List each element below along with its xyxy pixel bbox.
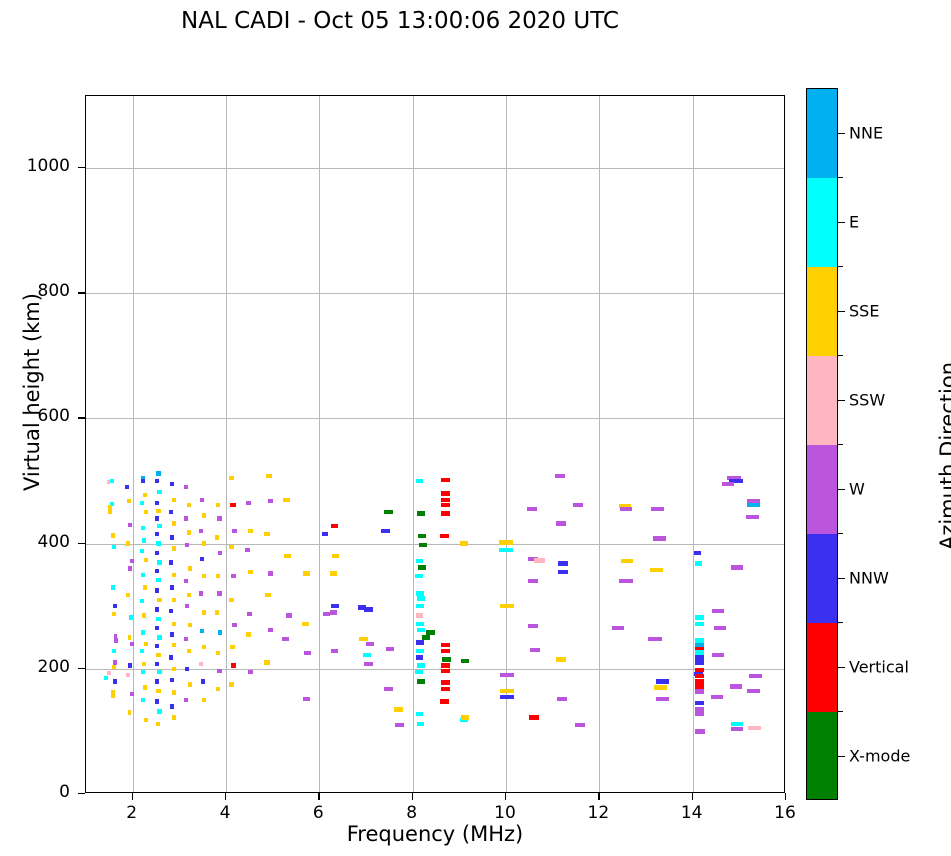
data-mark [107, 480, 111, 484]
data-mark [143, 493, 147, 497]
data-mark [460, 541, 468, 545]
data-mark [202, 541, 206, 545]
data-mark [140, 501, 144, 505]
colorbar-segment-w [807, 445, 837, 534]
data-mark [416, 640, 423, 644]
data-mark [185, 604, 189, 608]
x-tick-mark [318, 793, 319, 800]
x-tick-label: 14 [681, 803, 703, 823]
data-mark [229, 545, 234, 549]
data-mark [113, 679, 117, 683]
data-mark [169, 560, 173, 564]
data-mark [140, 649, 144, 653]
data-mark [695, 615, 704, 619]
data-mark [722, 482, 734, 486]
data-mark [695, 684, 704, 688]
data-mark [187, 530, 191, 534]
data-mark [384, 510, 392, 514]
data-mark [215, 535, 219, 539]
data-mark [156, 541, 161, 545]
data-mark [156, 471, 161, 475]
data-mark [155, 588, 160, 592]
data-mark [229, 682, 234, 686]
data-mark [229, 476, 234, 480]
colorbar-segment-nnw [807, 534, 837, 623]
data-mark [712, 609, 724, 613]
data-mark [155, 644, 160, 648]
data-mark [441, 687, 450, 691]
data-mark [265, 593, 271, 597]
data-mark [107, 671, 111, 675]
colorbar-boundary-tick [838, 355, 843, 356]
data-mark [653, 536, 666, 540]
plot-area [85, 95, 785, 793]
data-mark [200, 629, 204, 633]
data-mark [202, 513, 206, 517]
data-mark [695, 729, 704, 733]
data-mark [528, 579, 538, 583]
data-mark [363, 653, 371, 657]
data-mark [695, 561, 702, 565]
data-mark [461, 659, 469, 663]
data-mark [248, 670, 253, 674]
data-mark [141, 630, 145, 634]
data-mark [504, 540, 513, 544]
data-mark [395, 723, 403, 727]
colorbar-label-e: E [849, 212, 859, 231]
data-mark [155, 662, 160, 666]
data-mark [746, 515, 759, 519]
x-tick-label: 4 [220, 803, 231, 823]
data-mark [268, 499, 274, 503]
data-mark [172, 643, 176, 647]
data-mark [130, 559, 134, 563]
data-mark [114, 638, 118, 642]
data-mark [216, 574, 220, 578]
data-mark [505, 689, 514, 693]
data-mark [695, 668, 704, 672]
colorbar-tick-mark [838, 222, 845, 223]
gridline-vertical [599, 96, 600, 792]
data-mark [730, 684, 742, 688]
data-mark [128, 566, 132, 570]
data-mark [283, 498, 290, 502]
data-mark [110, 479, 114, 483]
data-mark [284, 554, 291, 558]
data-mark [231, 663, 236, 667]
data-mark [749, 674, 762, 678]
data-mark [229, 598, 234, 602]
data-mark [731, 727, 743, 731]
x-tick-label: 8 [406, 803, 417, 823]
data-mark [129, 615, 133, 619]
data-mark [218, 630, 222, 634]
data-mark [330, 610, 337, 614]
x-tick-label: 10 [494, 803, 516, 823]
data-mark [200, 498, 204, 502]
data-mark [199, 591, 203, 595]
data-mark [575, 723, 585, 727]
data-mark [558, 561, 568, 565]
x-tick-mark [785, 793, 786, 800]
data-mark [556, 657, 566, 661]
data-mark [282, 637, 289, 641]
data-mark [384, 687, 392, 691]
data-mark [184, 516, 188, 520]
colorbar-label-sse: SSE [849, 301, 879, 320]
data-mark [441, 643, 450, 647]
data-mark [656, 697, 669, 701]
gridline-horizontal [86, 544, 784, 545]
data-mark [441, 491, 450, 495]
data-mark [155, 569, 160, 573]
data-mark [504, 548, 513, 552]
data-mark [656, 679, 669, 683]
data-mark [654, 685, 667, 689]
colorbar-tick-mark [838, 578, 845, 579]
data-mark [157, 524, 162, 528]
data-mark [157, 709, 162, 713]
data-mark [130, 692, 134, 696]
colorbar-boundary-tick [838, 533, 843, 534]
data-mark [130, 642, 134, 646]
data-mark [172, 598, 176, 602]
data-mark [441, 680, 450, 684]
data-mark [620, 507, 632, 511]
data-mark [246, 632, 251, 636]
data-mark [172, 622, 176, 626]
data-mark [187, 593, 191, 597]
data-mark [185, 667, 189, 671]
gridline-vertical [413, 96, 414, 792]
colorbar-boundary-tick [838, 711, 843, 712]
data-mark [156, 689, 161, 693]
gridline-horizontal [86, 293, 784, 294]
colorbar-segment-nne [807, 89, 837, 178]
data-mark [155, 699, 160, 703]
data-mark [621, 559, 633, 563]
data-mark [417, 511, 425, 515]
data-mark [366, 642, 374, 646]
data-mark [619, 579, 633, 583]
colorbar-boundary-tick [838, 444, 843, 445]
data-mark [418, 565, 426, 569]
data-mark [188, 623, 192, 627]
data-mark [747, 503, 760, 507]
data-mark [125, 485, 129, 489]
data-mark [331, 524, 338, 528]
data-mark [128, 635, 132, 639]
data-mark [112, 649, 116, 653]
colorbar-boundary-tick [838, 266, 843, 267]
data-mark [142, 538, 146, 542]
y-axis-label: Virtual height (km) [20, 192, 44, 592]
colorbar-segment-sse [807, 267, 837, 356]
y-tick-mark [78, 543, 85, 544]
x-tick-mark [598, 793, 599, 800]
colorbar-label-ssw: SSW [849, 390, 885, 409]
data-mark [140, 549, 144, 553]
data-mark [304, 651, 311, 655]
data-mark [184, 698, 188, 702]
data-mark [216, 651, 220, 655]
data-mark [573, 503, 583, 507]
data-mark [155, 607, 160, 611]
data-mark [216, 503, 220, 507]
data-mark [442, 657, 451, 661]
data-mark [557, 697, 567, 701]
data-mark [415, 574, 422, 578]
data-mark [246, 501, 251, 505]
data-mark [155, 479, 160, 483]
y-tick-mark [78, 292, 85, 293]
data-mark [364, 607, 372, 611]
x-tick-label: 2 [126, 803, 137, 823]
data-mark [364, 662, 372, 666]
data-mark [170, 535, 174, 539]
data-mark [695, 650, 704, 654]
gridline-horizontal [86, 669, 784, 670]
y-tick-mark [78, 668, 85, 669]
data-mark [187, 503, 191, 507]
data-mark [156, 578, 161, 582]
data-mark [268, 571, 274, 575]
x-tick-mark [692, 793, 693, 800]
data-mark [441, 511, 450, 515]
gridline-horizontal [86, 168, 784, 169]
data-mark [264, 660, 270, 664]
gridline-vertical [319, 96, 320, 792]
data-mark [200, 557, 204, 561]
data-mark [155, 551, 160, 555]
data-mark [144, 642, 148, 646]
data-mark [695, 701, 704, 705]
data-mark [415, 670, 422, 674]
data-mark [217, 669, 221, 673]
colorbar-segment-vertical [807, 623, 837, 712]
colorbar-tick-mark [838, 667, 845, 668]
data-mark [426, 630, 434, 634]
data-mark [232, 623, 237, 627]
data-mark [143, 685, 147, 689]
data-mark [505, 604, 514, 608]
data-mark [188, 566, 192, 570]
data-mark [441, 498, 450, 502]
data-mark [202, 645, 206, 649]
data-mark [201, 679, 205, 683]
data-mark [187, 649, 191, 653]
data-mark [127, 499, 131, 503]
data-mark [712, 653, 724, 657]
data-mark [748, 726, 761, 730]
data-mark [440, 699, 449, 703]
data-mark [199, 662, 203, 666]
data-mark [416, 655, 423, 659]
data-mark [157, 635, 162, 639]
data-mark [527, 507, 537, 511]
data-mark [529, 715, 539, 719]
data-mark [202, 610, 206, 614]
data-mark [128, 663, 132, 667]
data-mark [202, 698, 206, 702]
data-mark [126, 593, 130, 597]
data-mark [419, 543, 427, 547]
data-mark [172, 521, 176, 525]
data-mark [694, 551, 701, 555]
data-mark [695, 655, 704, 659]
data-mark [140, 599, 144, 603]
colorbar-tick-mark [838, 489, 845, 490]
data-mark [156, 617, 161, 621]
colorbar-tick-mark [838, 400, 845, 401]
data-mark [155, 679, 160, 683]
y-tick-mark [78, 793, 85, 794]
data-mark [170, 482, 174, 486]
data-mark [264, 532, 270, 536]
data-mark [143, 585, 147, 589]
data-mark [731, 722, 743, 726]
data-mark [534, 558, 544, 562]
x-tick-label: 12 [588, 803, 610, 823]
data-mark [155, 626, 160, 630]
x-tick-mark [132, 793, 133, 800]
data-mark [416, 712, 423, 716]
data-mark [731, 565, 743, 569]
data-mark [331, 649, 338, 653]
data-mark [330, 571, 337, 575]
data-mark [141, 479, 145, 483]
x-tick-mark [505, 793, 506, 800]
data-mark [418, 534, 426, 538]
data-mark [104, 676, 108, 680]
data-mark [156, 509, 161, 513]
data-mark [461, 715, 469, 719]
data-mark [331, 604, 338, 608]
data-mark [217, 591, 221, 595]
data-mark [441, 663, 450, 667]
data-mark [172, 690, 176, 694]
data-mark [170, 585, 174, 589]
data-mark [155, 501, 160, 505]
data-mark [157, 598, 162, 602]
gridline-vertical [133, 96, 134, 792]
data-mark [416, 613, 423, 617]
data-mark [714, 626, 726, 630]
data-mark [747, 689, 760, 693]
data-mark [144, 510, 148, 514]
data-mark [695, 689, 704, 693]
data-mark [169, 655, 173, 659]
colorbar-label-nne: NNE [849, 123, 883, 142]
colorbar-segment-ssw [807, 356, 837, 445]
data-mark [144, 558, 148, 562]
data-mark [695, 712, 704, 716]
data-mark [381, 529, 389, 533]
colorbar-boundary-tick [838, 177, 843, 178]
x-tick-label: 16 [774, 803, 796, 823]
data-mark [111, 533, 115, 537]
colorbar-label-nnw: NNW [849, 568, 889, 587]
data-mark [217, 516, 221, 520]
gridline-vertical [226, 96, 227, 792]
data-mark [231, 574, 236, 578]
colorbar-label-vertical: Vertical [849, 657, 909, 676]
x-axis-label: Frequency (MHz) [85, 822, 785, 846]
data-mark [184, 637, 188, 641]
data-mark [126, 673, 130, 677]
data-mark [155, 532, 160, 536]
data-mark [142, 613, 146, 617]
data-mark [417, 663, 424, 667]
data-mark [441, 669, 450, 673]
colorbar [806, 88, 838, 800]
data-mark [216, 687, 220, 691]
data-mark [141, 698, 145, 702]
data-mark [155, 516, 160, 520]
data-mark [199, 529, 203, 533]
data-mark [441, 478, 450, 482]
data-mark [128, 523, 132, 527]
data-mark [169, 510, 173, 514]
data-mark [156, 722, 161, 726]
data-mark [170, 678, 174, 682]
y-tick-label: 0 [59, 782, 70, 802]
x-tick-label: 6 [313, 803, 324, 823]
data-mark [416, 604, 423, 608]
data-mark [172, 715, 176, 719]
colorbar-title: Azimuth Direction [936, 306, 951, 606]
data-mark [332, 554, 339, 558]
data-mark [422, 635, 430, 639]
data-mark [416, 479, 423, 483]
data-mark [416, 591, 423, 595]
data-mark [417, 628, 424, 632]
data-mark [416, 622, 423, 626]
data-mark [417, 722, 424, 726]
colorbar-tick-mark [838, 133, 845, 134]
data-mark [126, 541, 130, 545]
data-mark [555, 474, 565, 478]
data-mark [695, 679, 704, 683]
data-mark [303, 571, 310, 575]
data-mark [141, 526, 145, 530]
data-mark [394, 707, 402, 711]
data-mark [113, 604, 117, 608]
data-mark [157, 560, 162, 564]
data-mark [302, 622, 309, 626]
data-mark [416, 559, 423, 563]
data-mark [416, 649, 423, 653]
data-mark [286, 613, 293, 617]
x-tick-mark [412, 793, 413, 800]
y-tick-label: 200 [38, 657, 70, 677]
colorbar-segment-e [807, 178, 837, 267]
ionogram-figure: NAL CADI - Oct 05 13:00:06 2020 UTC 0200… [0, 0, 951, 856]
colorbar-label-x-mode: X-mode [849, 746, 910, 765]
data-mark [112, 545, 116, 549]
data-mark [218, 551, 222, 555]
data-mark [141, 573, 145, 577]
y-tick-label: 1000 [27, 156, 70, 176]
y-tick-mark [78, 417, 85, 418]
data-mark [185, 543, 189, 547]
data-mark [266, 474, 272, 478]
colorbar-label-w: W [849, 479, 865, 498]
data-mark [108, 505, 112, 514]
data-mark [172, 546, 176, 550]
colorbar-tick-mark [838, 311, 845, 312]
data-mark [144, 718, 148, 722]
